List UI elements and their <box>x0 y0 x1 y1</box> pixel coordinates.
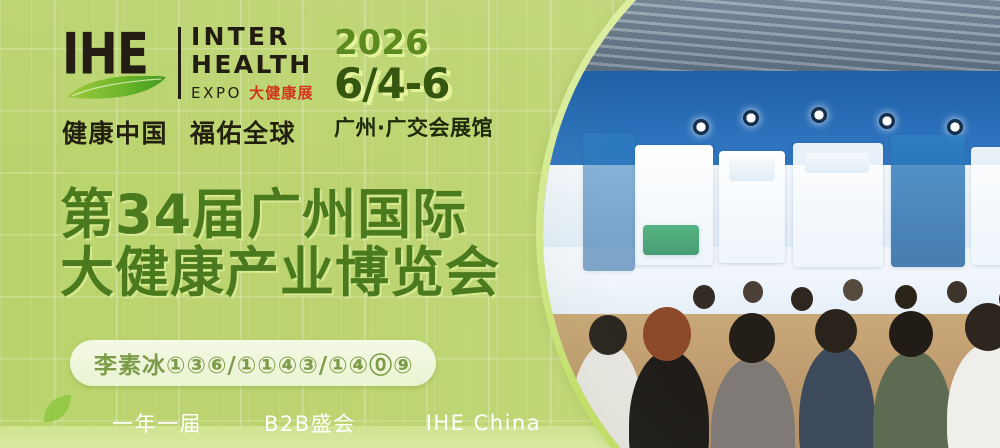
crowd-person-head <box>643 307 691 361</box>
logo-wordmark: INTER HEALTH EXPO 大健康展 <box>191 24 322 103</box>
crowd-person-head <box>843 279 863 301</box>
ceiling-spotlight <box>693 119 709 135</box>
leaf-icon <box>66 76 170 102</box>
crowd-person-head <box>791 287 813 311</box>
photo-content: 展厅 Hall 16.2 展厅 Hall 14.2 <box>543 0 1000 448</box>
logo-word-inter: INTER <box>191 25 322 50</box>
ceiling-spotlight <box>811 107 827 123</box>
logo-word-health: HEALTH <box>191 53 322 78</box>
leaf-icon <box>40 392 74 426</box>
booth-sign <box>805 153 869 173</box>
contact-pill[interactable]: 李素冰①③⑥/①①④③/①④⓪⑨ <box>70 340 436 386</box>
event-venue: 广州·广交会展馆 <box>334 112 554 142</box>
bottom-tagline: 一年一届 B2B盛会 IHE China <box>112 408 541 438</box>
crowd-person-head <box>743 281 763 303</box>
ceiling-spotlight <box>947 119 963 135</box>
crowd-person-head <box>693 285 715 309</box>
crowd-person-head <box>895 285 917 309</box>
ceiling-spotlight <box>879 113 895 129</box>
brand-slogan: 健康中国福佑全球 <box>62 114 322 150</box>
slogan-left: 健康中国 <box>62 119 168 148</box>
event-year: 2026 <box>334 26 554 60</box>
ihe-letters: IHE <box>62 26 148 83</box>
contact-text: 李素冰①③⑥/①①④③/①④⓪⑨ <box>94 346 414 380</box>
tagline-item-3: IHE China <box>426 411 541 435</box>
logo-word-expo: EXPO <box>191 84 242 102</box>
crowd-person-head <box>815 309 857 353</box>
booth-panel <box>971 147 1000 265</box>
booth-panel <box>643 225 699 255</box>
left-content: IHE <box>0 0 600 448</box>
event-date-block: 2026 6/4-6 广州·广交会展馆 <box>334 26 554 142</box>
tagline-item-1: 一年一届 <box>112 408 202 438</box>
crowd-person-head <box>947 281 967 303</box>
photo-ring: 展厅 Hall 16.2 展厅 Hall 14.2 <box>536 0 1000 448</box>
logo-row: IHE <box>62 24 322 103</box>
exhibition-hall-crowd-photo: 展厅 Hall 16.2 展厅 Hall 14.2 <box>543 0 1000 448</box>
page-title: 第34届广州国际 大健康产业博览会 <box>60 186 500 303</box>
logo-word-expo-cn: 大健康展 <box>249 82 314 103</box>
ihe-logomark: IHE <box>62 24 174 102</box>
headline-line-2: 大健康产业博览会 <box>60 244 500 302</box>
promotional-banner: 展厅 Hall 16.2 展厅 Hall 14.2 <box>0 0 1000 448</box>
booth-panel <box>891 135 965 267</box>
event-date-range: 6/4-6 <box>334 62 554 107</box>
headline-line-1: 第34届广州国际 <box>60 186 500 244</box>
tagline-item-2: B2B盛会 <box>264 408 356 438</box>
ceiling-spotlight <box>743 110 759 126</box>
booth-sign <box>729 159 775 181</box>
logo-divider <box>178 27 181 99</box>
logo-expo-row: EXPO 大健康展 <box>191 82 322 103</box>
crowd-person-head <box>889 311 933 357</box>
crowd-person-head <box>729 313 775 363</box>
brand-logo-block: IHE <box>62 24 322 150</box>
slogan-right: 福佑全球 <box>190 119 296 148</box>
